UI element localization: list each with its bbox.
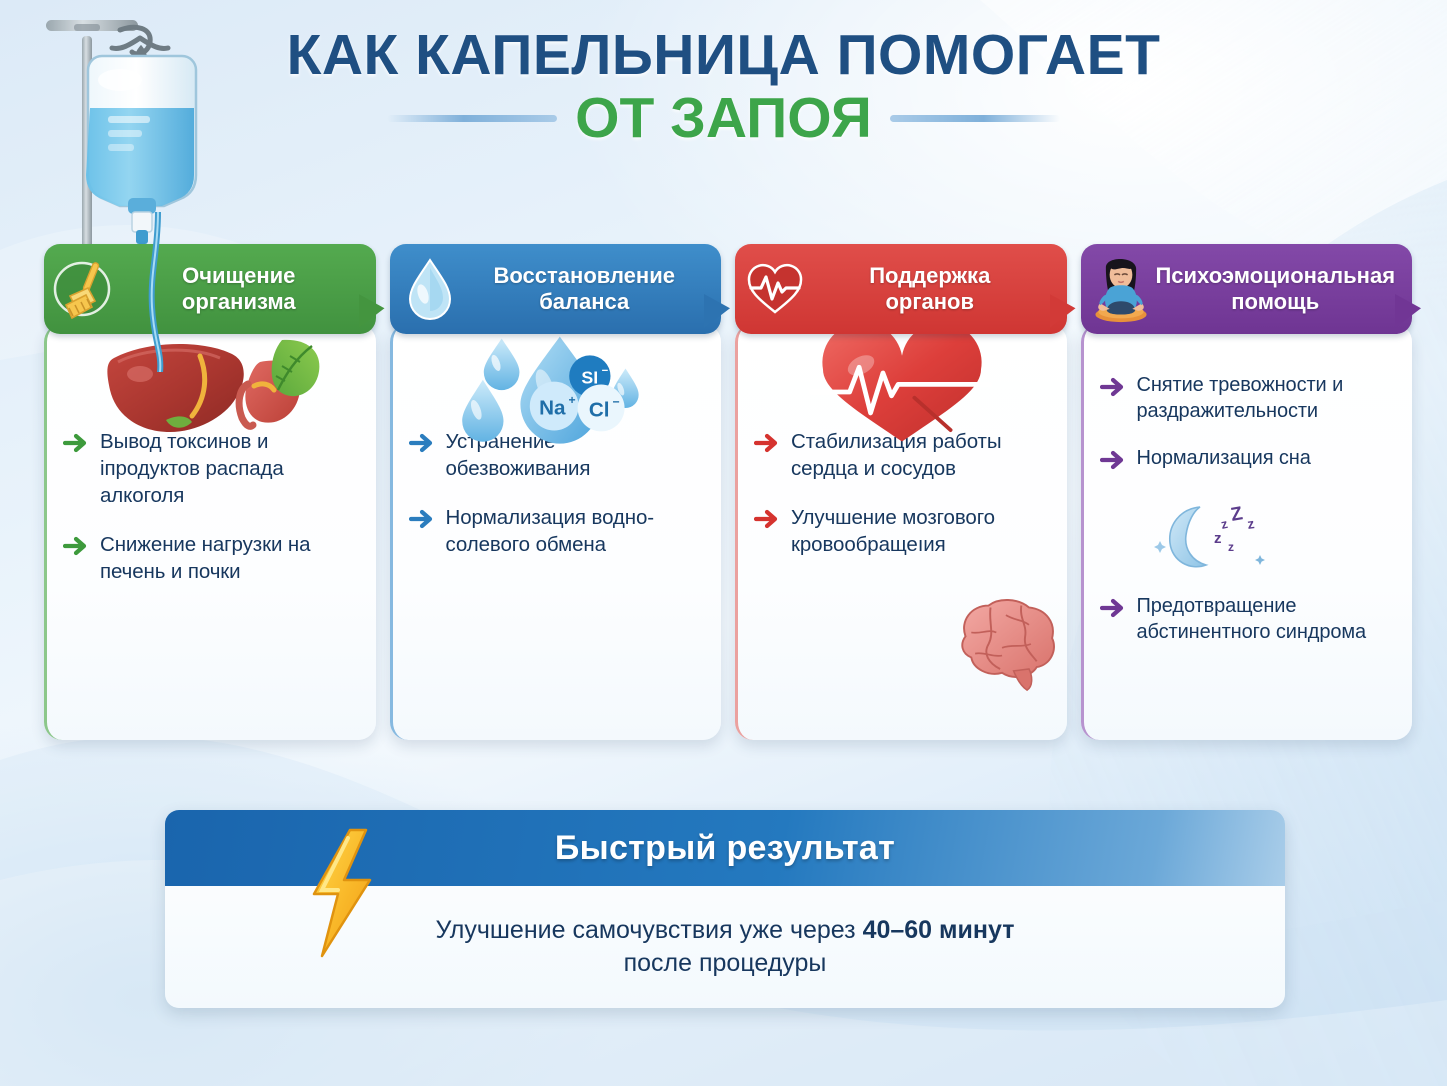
arrow-right-icon [409,506,435,532]
title-rule-left [387,115,557,122]
page-title-accent: ОТ ЗАПОЯ [575,90,872,147]
card-balance-tail [704,294,730,328]
arrow-right-icon [1100,447,1126,473]
card-organs-header: Поддержка органов [735,244,1067,334]
fast-result-banner: Быстрый результат Улучшение самочувствия… [165,810,1285,1008]
water-drop-icon [398,254,462,324]
svg-text:−: − [601,365,608,377]
page-subtitle-row: ОТ ЗАПОЯ [0,90,1447,147]
arrow-right-icon [1100,374,1126,400]
bullet-label: Устранение обезвоживания [446,428,706,482]
card-balance-header: Восстановление баланса [390,244,722,334]
bullet-label: Предотвращение абстинентного синдрома [1137,593,1397,646]
card-organs-title-line2: органов [805,289,1055,315]
page-title-main: КАК КАПЕЛЬНИЦА ПОМОГАЕТ [0,26,1447,84]
brain-icon [945,594,1063,694]
fast-result-line1-prefix: Улучшение самочувствия уже через [436,916,863,944]
arrow-right-icon [409,430,435,456]
card-psycho-bullets: Снятие тревожности и раздражительности Н… [1100,372,1397,646]
bullet-item: Предотвращение абстинентного синдрома [1100,593,1397,646]
card-balance-title-line1: Восстановление [460,263,710,289]
card-balance[interactable]: Восстановление баланса [390,244,722,740]
card-balance-title-line2: баланса [460,289,710,315]
fast-result-line2: после процедуры [624,949,827,978]
bullet-item: Улучшение мозгового кровообращеıия [754,504,1051,558]
card-cleansing[interactable]: Очищение организма [44,244,376,740]
card-balance-title: Восстановление баланса [460,263,710,315]
bullet-item: Вывод токсинов и iпродуктов распада алко… [63,428,360,509]
svg-text:Z: Z [1229,503,1244,526]
card-psycho-title: Психоэмоциональная помощь [1151,263,1401,315]
card-balance-body: SI − Na + Cl − Устран [390,324,722,740]
card-balance-bullets: Устранение обезвоживания Нормализация во… [409,428,706,558]
card-cleansing-title-line1: Очищение [114,263,364,289]
svg-text:z: z [1228,540,1234,554]
card-organs[interactable]: Поддержка органов [735,244,1067,740]
card-cleansing-header: Очищение организма [44,244,376,334]
heart-pulse-icon [743,254,807,324]
bullet-item: Нормализация сна [1100,445,1397,473]
bullet-item: Снижение нагрузки на печень и почки [63,531,360,585]
arrow-right-icon [754,506,780,532]
bullet-item: Нормализация водно-солевого обмена [409,504,706,558]
svg-text:−: − [612,395,619,409]
arrow-right-icon [754,430,780,456]
fast-result-title: Быстрый результат [555,829,895,868]
card-cleansing-tail [359,294,385,328]
card-organs-body: Стабилизация работы сердца и сосудов Улу… [735,324,1067,740]
broom-icon [52,254,116,324]
arrow-right-icon [1100,595,1126,621]
bullet-label: Нормализация сна [1137,445,1311,471]
svg-text:SI: SI [581,368,598,388]
card-organs-title-line1: Поддержка [805,263,1055,289]
benefit-cards-row: Очищение организма [44,244,1412,740]
bullet-label: Снятие тревожности и раздражительности [1137,372,1397,425]
title-rule-right [890,115,1060,122]
meditating-woman-icon [1089,254,1153,324]
bullet-label: Вывод токсинов и iпродуктов распада алко… [100,428,360,509]
bullet-item: Устранение обезвоживания [409,428,706,482]
arrow-right-icon [63,430,89,456]
lightning-bolt-icon [298,828,384,958]
svg-text:Na: Na [539,397,566,420]
card-cleansing-body: Вывод токсинов и iпродуктов распада алко… [44,324,376,740]
infographic-canvas: КАК КАПЕЛЬНИЦА ПОМОГАЕТ ОТ ЗАПОЯ [0,0,1447,1086]
card-cleansing-bullets: Вывод токсинов и iпродуктов распада алко… [63,428,360,585]
card-psycho[interactable]: Психоэмоциональная помощь Снятие тревожн… [1081,244,1413,740]
card-psycho-header: Психоэмоциональная помощь [1081,244,1413,334]
bullet-item: Стабилизация работы сердца и сосудов [754,428,1051,482]
card-psycho-body: Снятие тревожности и раздражительности Н… [1081,324,1413,740]
page-title-block: КАК КАПЕЛЬНИЦА ПОМОГАЕТ ОТ ЗАПОЯ [0,26,1447,147]
card-organs-bullets: Стабилизация работы сердца и сосудов Улу… [754,428,1051,558]
card-organs-tail [1050,294,1076,328]
fast-result-highlight: 40–60 минут [863,916,1015,944]
bullet-label: Снижение нагрузки на печень и почки [100,531,360,585]
svg-text:z: z [1246,515,1255,532]
fast-result-line1: Улучшение самочувствия уже через 40–60 м… [436,916,1015,945]
card-cleansing-title: Очищение организма [114,263,364,315]
card-psycho-title-line1: Психоэмоциональная [1151,263,1401,289]
bullet-item: Снятие тревожности и раздражительности [1100,372,1397,425]
bullet-label: Нормализация водно-солевого обмена [446,504,706,558]
card-cleansing-title-line2: организма [114,289,364,315]
svg-text:+: + [568,393,575,407]
card-organs-title: Поддержка органов [805,263,1055,315]
moon-sleep-icon: z Z z z z [1148,499,1298,573]
svg-text:z: z [1214,530,1222,547]
arrow-right-icon [63,533,89,559]
bullet-label: Улучшение мозгового кровообращеıия [791,504,1051,558]
card-psycho-title-line2: помощь [1151,289,1401,315]
svg-text:Cl: Cl [589,398,610,421]
bullet-label: Стабилизация работы сердца и сосудов [791,428,1051,482]
